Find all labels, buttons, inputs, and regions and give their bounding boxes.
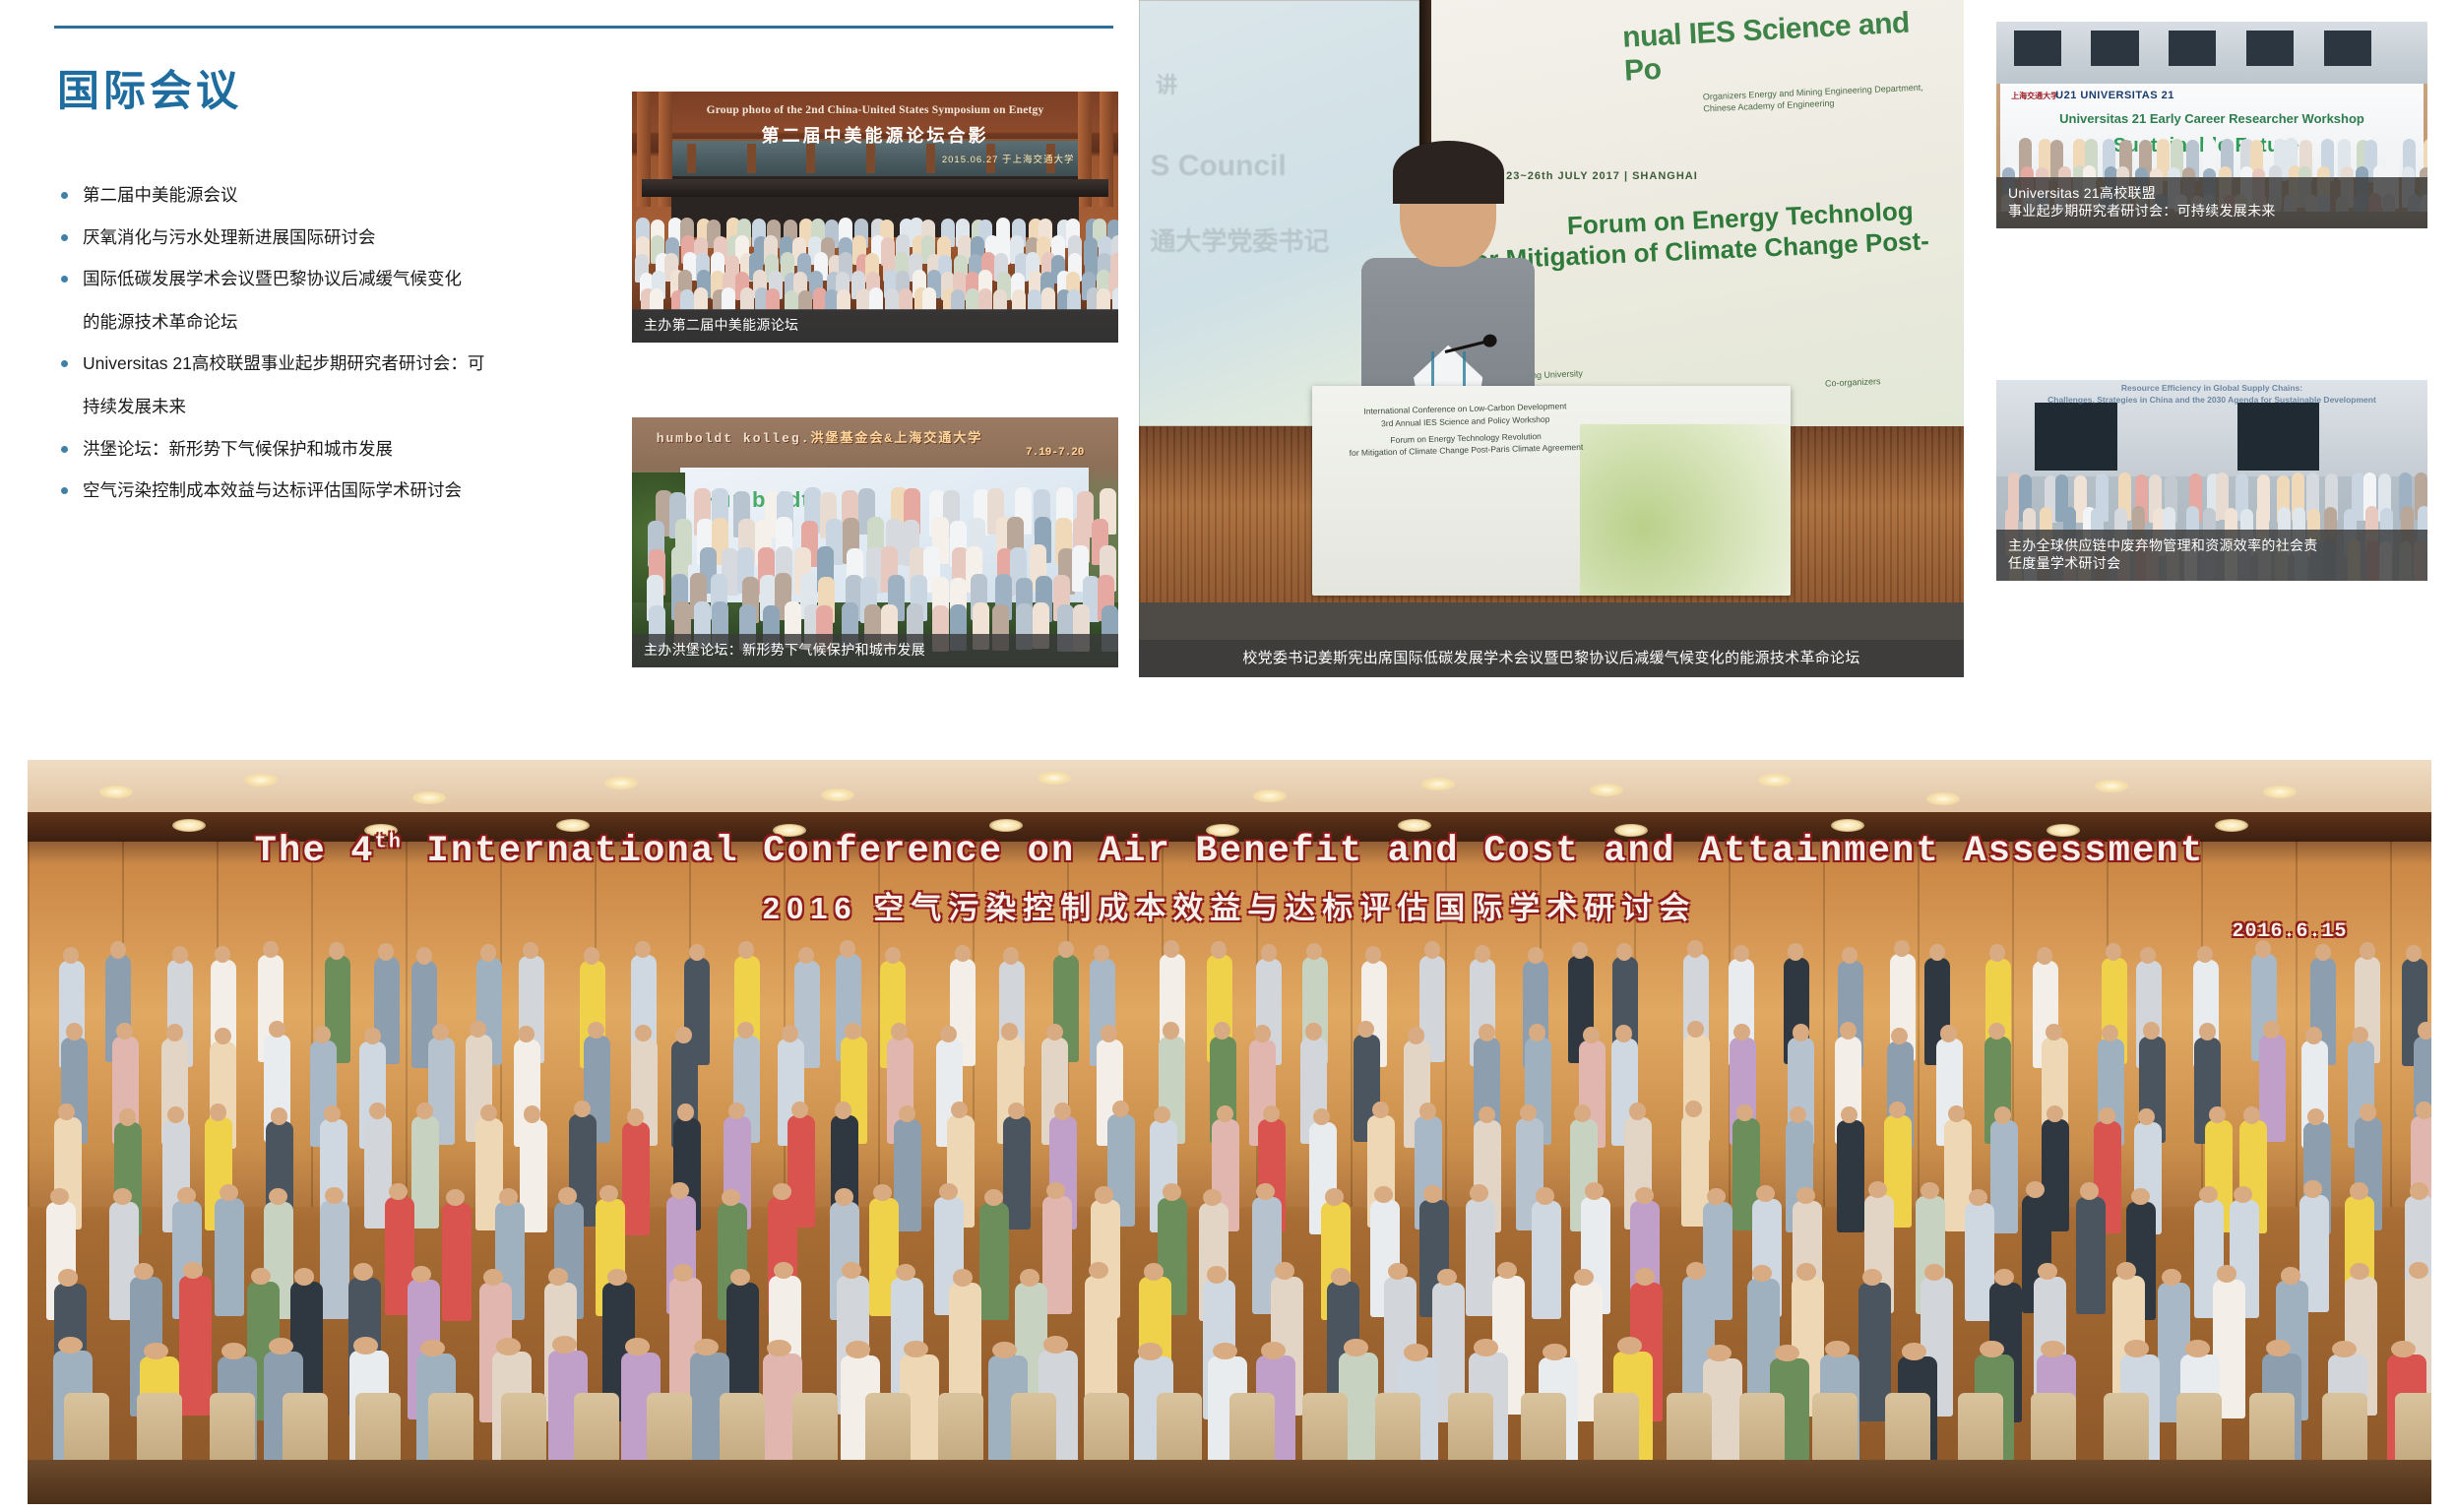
list-item: 厌氧消化与污水处理新进展国际研讨会	[57, 224, 569, 251]
banner-en-rest: International Conference on Air Benefit …	[403, 831, 2204, 872]
photo-abca-2016: The 4th International Conference on Air …	[28, 760, 2431, 1504]
building	[1996, 22, 2427, 84]
poster-coorganizers: Co-organizers	[1825, 373, 1942, 390]
list-item-line: 空气污染控制成本效益与达标评估国际学术研讨会	[83, 477, 569, 504]
caption-line-2: 事业起步期研究者研讨会：可持续发展未来	[2008, 202, 2418, 220]
podium-text: International Conference on Low-Carbon D…	[1326, 400, 1605, 461]
bullet-dot-icon	[61, 487, 68, 494]
photo-scene: The 4th International Conference on Air …	[28, 760, 2431, 1504]
sjtu-logo: 上海交通大学	[2011, 91, 2058, 101]
caption-line-2: 任度量学术研讨会	[2008, 554, 2418, 573]
bullet-dot-icon	[61, 276, 68, 283]
screen-line-1: 讲	[1156, 68, 1177, 99]
banner-en-sup: th	[375, 831, 403, 853]
photo-u21-workshop: 上海交通大学 U21 UNIVERSITAS 21 Universitas 21…	[1996, 22, 2427, 228]
banner-line-2: Challenges, Strategies in China and the …	[1996, 394, 2427, 406]
poster-organizers-top: Organizers Energy and Mining Engineering…	[1703, 80, 1948, 114]
banner-en-prefix: The 4	[255, 831, 375, 872]
photo-caption: 校党委书记姜斯宪出席国际低碳发展学术会议暨巴黎协议后减缓气候变化的能源技术革命论…	[1139, 640, 1964, 677]
photo-scene: 讲 S Council 通大学党委书记 nual IES Science and…	[1139, 0, 1964, 677]
poster-heading-top: nual IES Science and Po	[1622, 4, 1955, 88]
photo-caption: 主办全球供应链中废弃物管理和资源效率的社会责 任度量学术研讨会	[1996, 530, 2427, 582]
list-item: 国际低碳发展学术会议暨巴黎协议后减缓气候变化 的能源技术革命论坛	[57, 266, 569, 335]
banner-line-1: Resource Efficiency in Global Supply Cha…	[1996, 382, 2427, 394]
crowd	[632, 218, 1118, 313]
screen-line-3: 通大学党委书记	[1150, 221, 1329, 258]
page-title: 国际会议	[57, 57, 242, 118]
poster-heading-main: Forum on Energy Technolog for Mitigation…	[1463, 194, 1954, 276]
speaker-hair	[1393, 141, 1504, 204]
list-item-line: 国际低碳发展学术会议暨巴黎协议后减缓气候变化	[83, 266, 569, 292]
banner-title-cn: 2016 空气污染控制成本效益与达标评估国际学术研讨会	[28, 883, 2431, 927]
poster-date: 23~26th JULY 2017 | SHANGHAI	[1506, 170, 1698, 182]
banner-date: 2016.6.15	[2233, 920, 2348, 943]
list-item-line: 洪堡论坛：新形势下气候保护和城市发展	[83, 436, 569, 463]
photo-caption: 主办第二届中美能源论坛	[632, 309, 1118, 343]
photo-supply-chain: Resource Efficiency in Global Supply Cha…	[1996, 380, 2427, 581]
banner-text-en: humboldt kolleg.洪堡基金会&上海交通大学	[657, 427, 983, 446]
banner-title-en: The 4th International Conference on Air …	[28, 831, 2431, 872]
u21-logo: U21 UNIVERSITAS 21	[2055, 90, 2174, 101]
banner-cn-part: 洪堡基金会&上海交通大学	[811, 431, 983, 446]
photo-low-carbon-forum: 讲 S Council 通大学党委书记 nual IES Science and…	[1139, 0, 1964, 677]
bullet-dot-icon	[61, 192, 68, 199]
banner-date: 2015.06.27 于上海交通大学	[942, 152, 1075, 165]
screen-line-2: S Council	[1150, 150, 1286, 183]
list-item: Universitas 21高校联盟事业起步期研究者研讨会：可 持续发展未来	[57, 350, 569, 419]
bullet-dot-icon	[61, 360, 68, 367]
event-banner: Resource Efficiency in Global Supply Cha…	[1996, 382, 2427, 407]
photo-humboldt-kolleg: Humboldt humboldt kolleg.洪堡基金会&上海交通大学 7.…	[632, 417, 1118, 667]
photo-china-us-energy: Group photo of the 2nd China-United Stat…	[632, 92, 1118, 343]
photo-caption: 主办洪堡论坛：新形势下气候保护和城市发展	[632, 634, 1118, 667]
list-item: 洪堡论坛：新形势下气候保护和城市发展	[57, 436, 569, 463]
canopy	[642, 179, 1108, 197]
podium-graphic	[1580, 424, 1791, 597]
crowd	[642, 487, 1108, 642]
list-item-line: 厌氧消化与污水处理新进展国际研讨会	[83, 224, 569, 251]
podium: International Conference on Low-Carbon D…	[1312, 386, 1791, 596]
slide-root: 国际会议 第二届中美能源会议 厌氧消化与污水处理新进展国际研讨会 国际低碳发展学…	[0, 0, 2456, 1512]
header-rule	[54, 26, 1113, 29]
photo-caption: Universitas 21高校联盟 事业起步期研究者研讨会：可持续发展未来	[1996, 177, 2427, 229]
banner-line-1: Universitas 21 Early Career Researcher W…	[2000, 111, 2423, 126]
floor	[28, 1460, 2431, 1504]
list-item-line: 第二届中美能源会议	[83, 182, 569, 209]
list-item-line: Universitas 21高校联盟事业起步期研究者研讨会：可	[83, 350, 569, 377]
list-item: 空气污染控制成本效益与达标评估国际学术研讨会	[57, 477, 569, 504]
banner-en-part: humboldt kolleg.	[657, 431, 811, 446]
banner-date: 7.19-7.20	[1026, 447, 1084, 459]
banner-text-cn: 第二届中美能源论坛合影	[632, 122, 1118, 148]
bullet-dot-icon	[61, 234, 68, 241]
caption-line-1: 主办全球供应链中废弃物管理和资源效率的社会责	[2008, 536, 2418, 555]
bullet-dot-icon	[61, 446, 68, 453]
list-item-line: 持续发展未来	[83, 394, 569, 420]
conference-list: 第二届中美能源会议 厌氧消化与污水处理新进展国际研讨会 国际低碳发展学术会议暨巴…	[57, 182, 569, 520]
caption-line-1: Universitas 21高校联盟	[2008, 184, 2418, 203]
list-item-line: 的能源技术革命论坛	[83, 309, 569, 336]
list-item: 第二届中美能源会议	[57, 182, 569, 209]
banner-text-en: Group photo of the 2nd China-United Stat…	[632, 104, 1118, 116]
